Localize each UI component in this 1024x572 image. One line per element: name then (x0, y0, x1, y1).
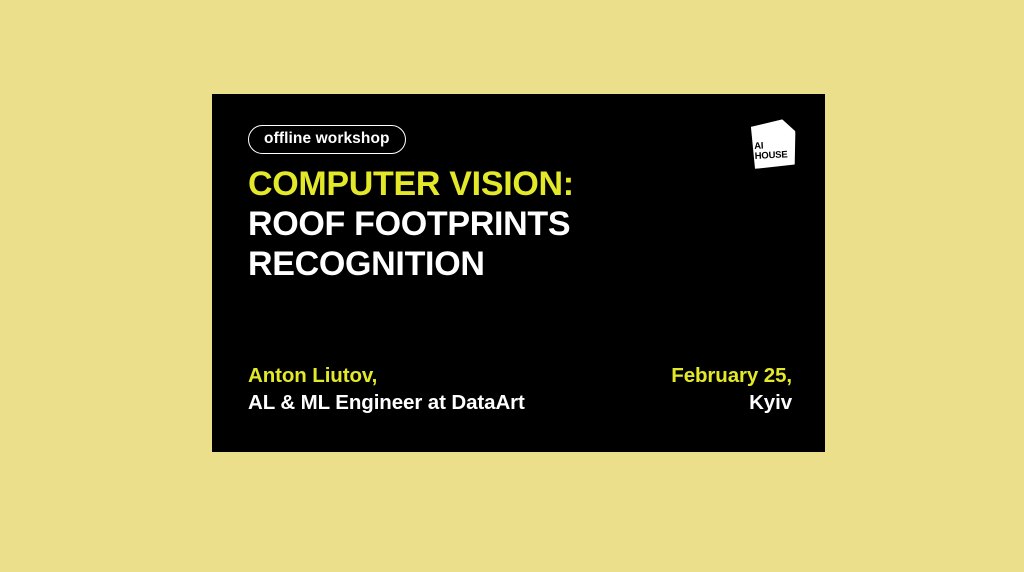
event-details: February 25, Kyiv (671, 362, 792, 416)
speaker-name: Anton Liutov, (248, 362, 525, 389)
logo-text-line-2: HOUSE (754, 149, 787, 162)
speaker-role: AL & ML Engineer at DataArt (248, 389, 525, 416)
title-line-1: COMPUTER VISION: (248, 164, 574, 204)
event-city: Kyiv (671, 389, 792, 416)
title-line-3: RECOGNITION (248, 244, 574, 284)
ai-house-logo: AI HOUSE (748, 120, 796, 168)
workshop-badge: offline workshop (248, 125, 406, 154)
event-date: February 25, (671, 362, 792, 389)
page-title: COMPUTER VISION: ROOF FOOTPRINTS RECOGNI… (248, 164, 574, 284)
logo-text: AI HOUSE (754, 140, 788, 161)
card-footer: Anton Liutov, AL & ML Engineer at DataAr… (248, 362, 792, 416)
title-line-2: ROOF FOOTPRINTS (248, 204, 574, 244)
speaker-info: Anton Liutov, AL & ML Engineer at DataAr… (248, 362, 525, 416)
event-card: offline workshop AI HOUSE COMPUTER VISIO… (212, 94, 825, 452)
